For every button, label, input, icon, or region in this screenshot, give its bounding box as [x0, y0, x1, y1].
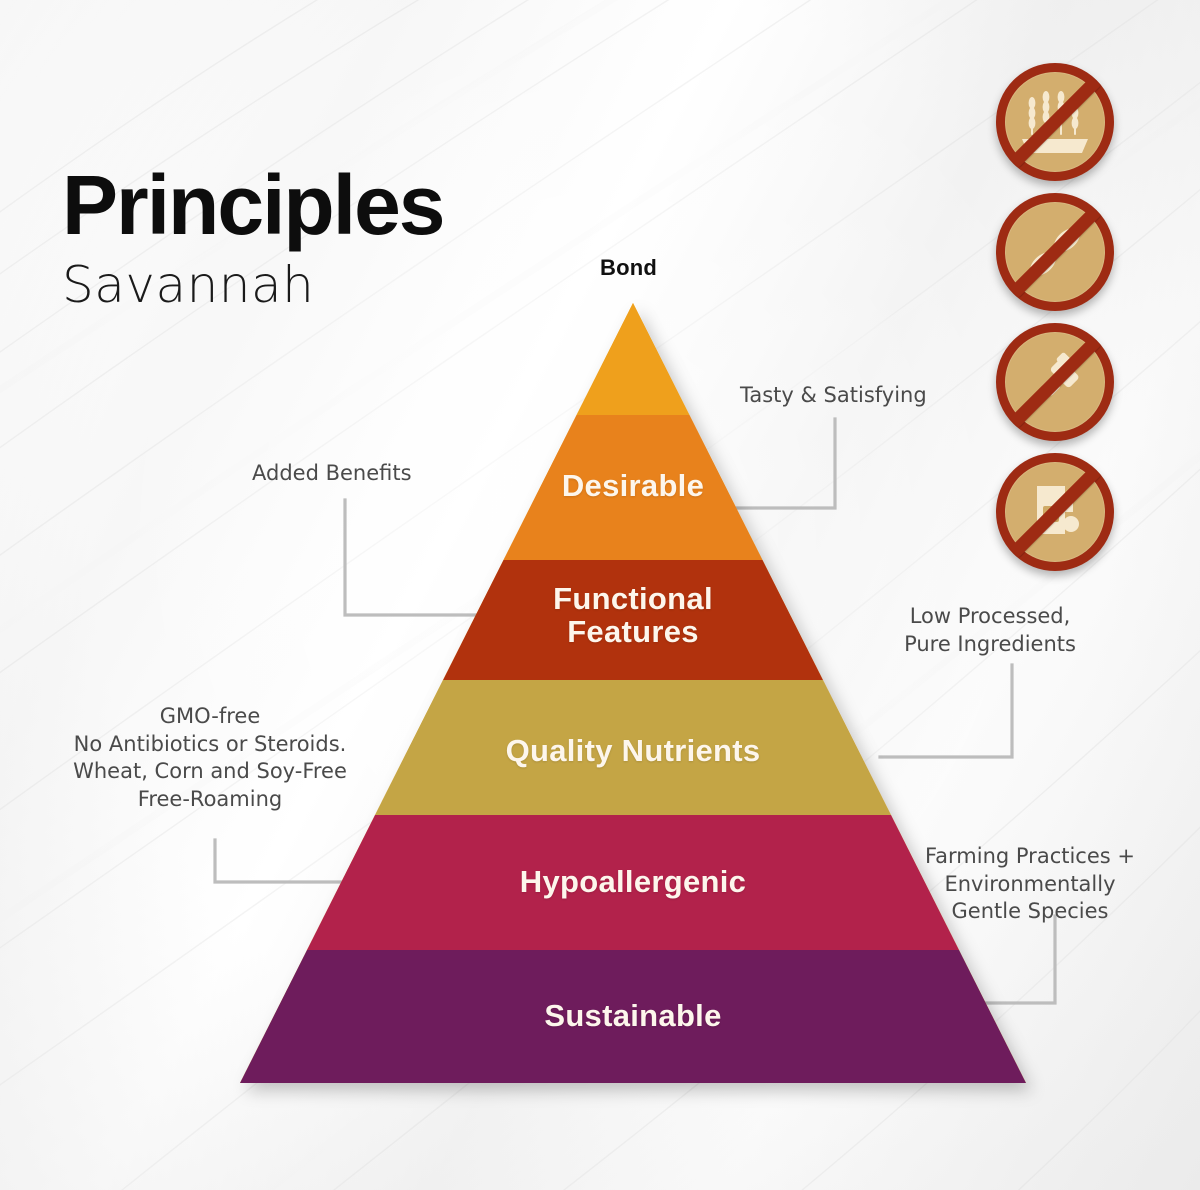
- no-antibiotics-badge: [996, 323, 1114, 441]
- callout-gmo-line1: GMO-free: [40, 703, 380, 731]
- callout-low-processed-line1: Low Processed,: [860, 603, 1120, 631]
- no-soy-badge: [996, 193, 1114, 311]
- callout-added-benefits: Added Benefits: [252, 460, 412, 488]
- callout-gmo-line2: No Antibiotics or Steroids.: [40, 731, 380, 759]
- no-additives-badge: [996, 453, 1114, 571]
- leader-line-added-benefits: [345, 500, 500, 615]
- callout-tasty-satisfying: Tasty & Satisfying: [740, 382, 927, 410]
- leader-line-gmo: [215, 840, 345, 882]
- callout-low-processed-line2: Pure Ingredients: [860, 631, 1120, 659]
- leader-line-low-processed: [880, 665, 1012, 757]
- pyramid-band-apex: [200, 303, 1080, 415]
- callout-farming-line2: Environmentally: [900, 871, 1160, 899]
- callout-low-processed: Low Processed, Pure Ingredients: [860, 603, 1120, 658]
- callout-gmo-line3: Wheat, Corn and Soy-Free: [40, 758, 380, 786]
- callout-farming-line1: Farming Practices +: [900, 843, 1160, 871]
- pyramid-band-sustain: [200, 950, 1080, 1085]
- callout-farming-line3: Gentle Species: [900, 898, 1160, 926]
- callout-gmo-line4: Free-Roaming: [40, 786, 380, 814]
- callout-farming-practices: Farming Practices + Environmentally Gent…: [900, 843, 1160, 926]
- pyramid-diagram: [0, 0, 1200, 1190]
- callout-gmo-free: GMO-free No Antibiotics or Steroids. Whe…: [40, 703, 380, 814]
- no-wheat-badge: [996, 63, 1114, 181]
- infographic-canvas: Principles Savannah: [0, 0, 1200, 1190]
- pyramid-apex-label: Bond: [600, 255, 657, 281]
